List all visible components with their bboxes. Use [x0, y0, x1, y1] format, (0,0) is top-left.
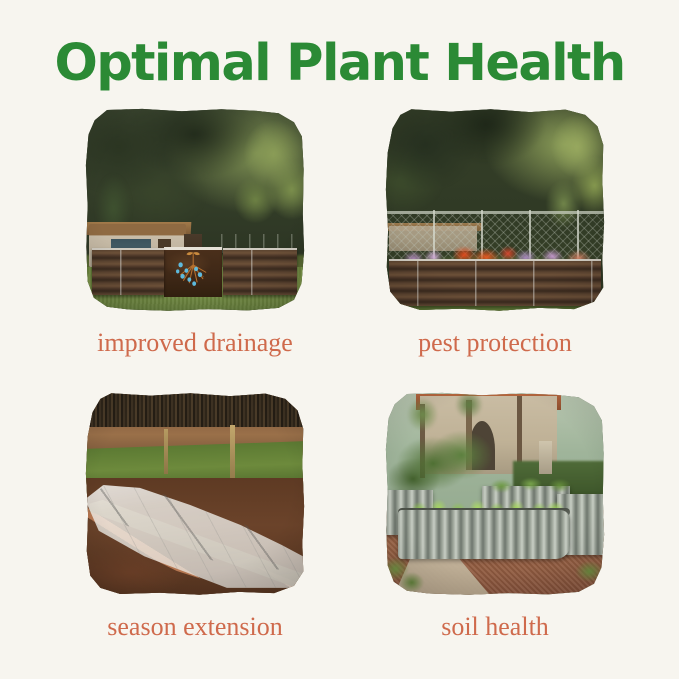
foreground-plant-right: [565, 551, 605, 592]
feature-cell-improved-drainage[interactable]: improved drainage: [85, 108, 305, 358]
feature-cell-season-extension[interactable]: season extension: [85, 392, 305, 642]
raised-bed-panel-right: [223, 248, 298, 295]
foreground-plant-left: [385, 551, 429, 596]
fence-post-left: [164, 429, 168, 474]
photo-pest-protection[interactable]: [385, 108, 605, 312]
photo-soil-health[interactable]: [385, 392, 605, 596]
raised-bed-panel-left: [92, 248, 165, 295]
water-droplet-illustration: [169, 251, 217, 292]
caption-season-extension: season extension: [85, 612, 305, 642]
caption-improved-drainage: improved drainage: [85, 328, 305, 358]
caption-soil-health: soil health: [385, 612, 605, 642]
photo-improved-drainage[interactable]: [85, 108, 305, 312]
stone-urn: [539, 441, 552, 474]
page-title: Optimal Plant Health: [0, 36, 679, 92]
infographic-root: Optimal Plant Health: [0, 0, 679, 679]
wooden-fence: [85, 392, 305, 427]
fence-post-right: [230, 425, 235, 478]
feature-cell-pest-protection[interactable]: pest protection: [385, 108, 605, 358]
photo-season-extension[interactable]: [85, 392, 305, 596]
feature-cell-soil-health[interactable]: soil health: [385, 392, 605, 642]
tree-canopy-sunlit: [213, 116, 305, 242]
caption-pest-protection: pest protection: [385, 328, 605, 358]
fence-top-rail: [385, 211, 605, 214]
raised-bed: [389, 259, 600, 306]
background-greens: [486, 474, 583, 494]
